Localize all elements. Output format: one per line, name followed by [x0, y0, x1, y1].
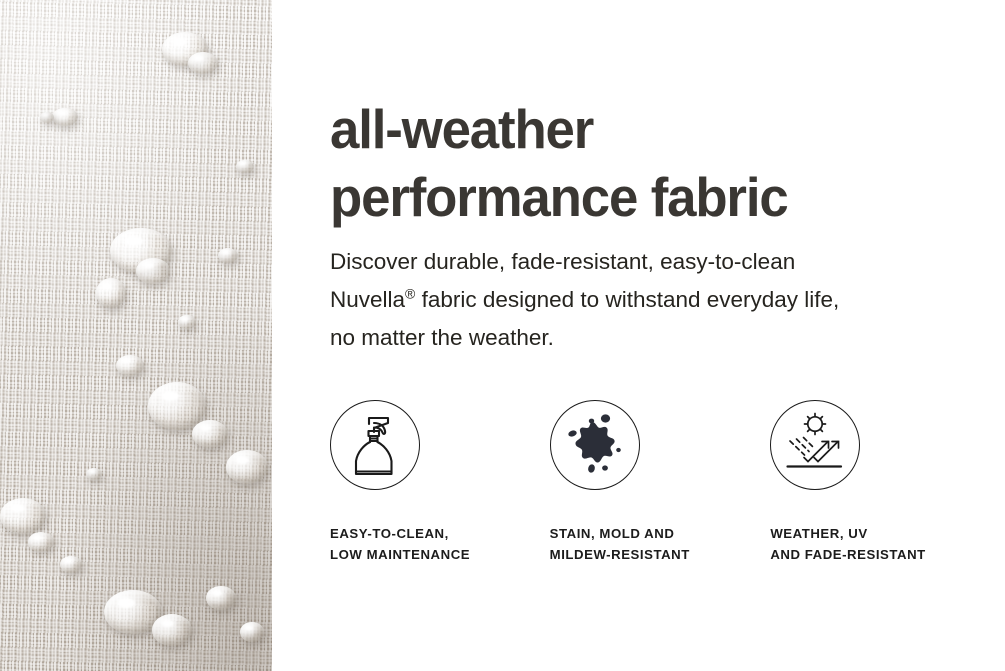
water-droplet	[60, 556, 82, 573]
water-droplet	[116, 355, 144, 376]
fabric-shading-overlay	[0, 0, 272, 671]
feature-caption: EASY-TO-CLEAN, LOW MAINTENANCE	[330, 523, 550, 565]
water-droplet	[152, 614, 192, 646]
water-droplet	[240, 622, 264, 642]
water-droplet	[28, 532, 54, 552]
hero-description-line-1: Discover durable, fade-resistant, easy-t…	[330, 249, 795, 274]
water-droplet	[136, 258, 170, 284]
registered-trademark-icon: ®	[405, 286, 415, 302]
marketing-banner: all-weather performance fabric Discover …	[0, 0, 1005, 671]
water-droplet	[226, 450, 268, 484]
content-column: all-weather performance fabric Discover …	[330, 0, 990, 671]
feature-caption: WEATHER, UV AND FADE-RESISTANT	[770, 523, 990, 565]
water-droplet	[192, 420, 228, 448]
page-title: all-weather performance fabric	[330, 95, 954, 231]
water-droplet	[96, 278, 126, 308]
water-droplet	[188, 52, 218, 74]
feature-item-easy-to-clean: EASY-TO-CLEAN, LOW MAINTENANCE	[330, 400, 550, 565]
feature-list: EASY-TO-CLEAN, LOW MAINTENANCE STAIN, M	[330, 400, 990, 565]
stain-splat-icon	[550, 400, 640, 490]
water-droplet	[236, 160, 254, 173]
feature-item-weather-uv: WEATHER, UV AND FADE-RESISTANT	[770, 400, 990, 565]
feature-caption: STAIN, MOLD AND MILDEW-RESISTANT	[550, 523, 771, 565]
hero-description: Discover durable, fade-resistant, easy-t…	[330, 243, 950, 357]
feature-item-stain-resistant: STAIN, MOLD AND MILDEW-RESISTANT	[550, 400, 771, 565]
brand-name-nuvella: Nuvella	[330, 287, 405, 312]
water-droplet	[0, 498, 46, 534]
hero-description-line-2: fabric designed to withstand everyday li…	[415, 287, 839, 312]
water-droplet	[206, 586, 236, 610]
water-beading-on-fabric-photo	[0, 0, 272, 671]
water-droplet	[86, 468, 102, 480]
spray-bottle-icon	[330, 400, 420, 490]
sun-uv-reflect-icon	[770, 400, 860, 490]
hero-description-line-3: no matter the weather.	[330, 325, 554, 350]
water-droplet	[218, 248, 238, 263]
water-droplet	[52, 108, 78, 126]
water-droplet	[40, 112, 54, 123]
water-droplet	[178, 315, 196, 329]
